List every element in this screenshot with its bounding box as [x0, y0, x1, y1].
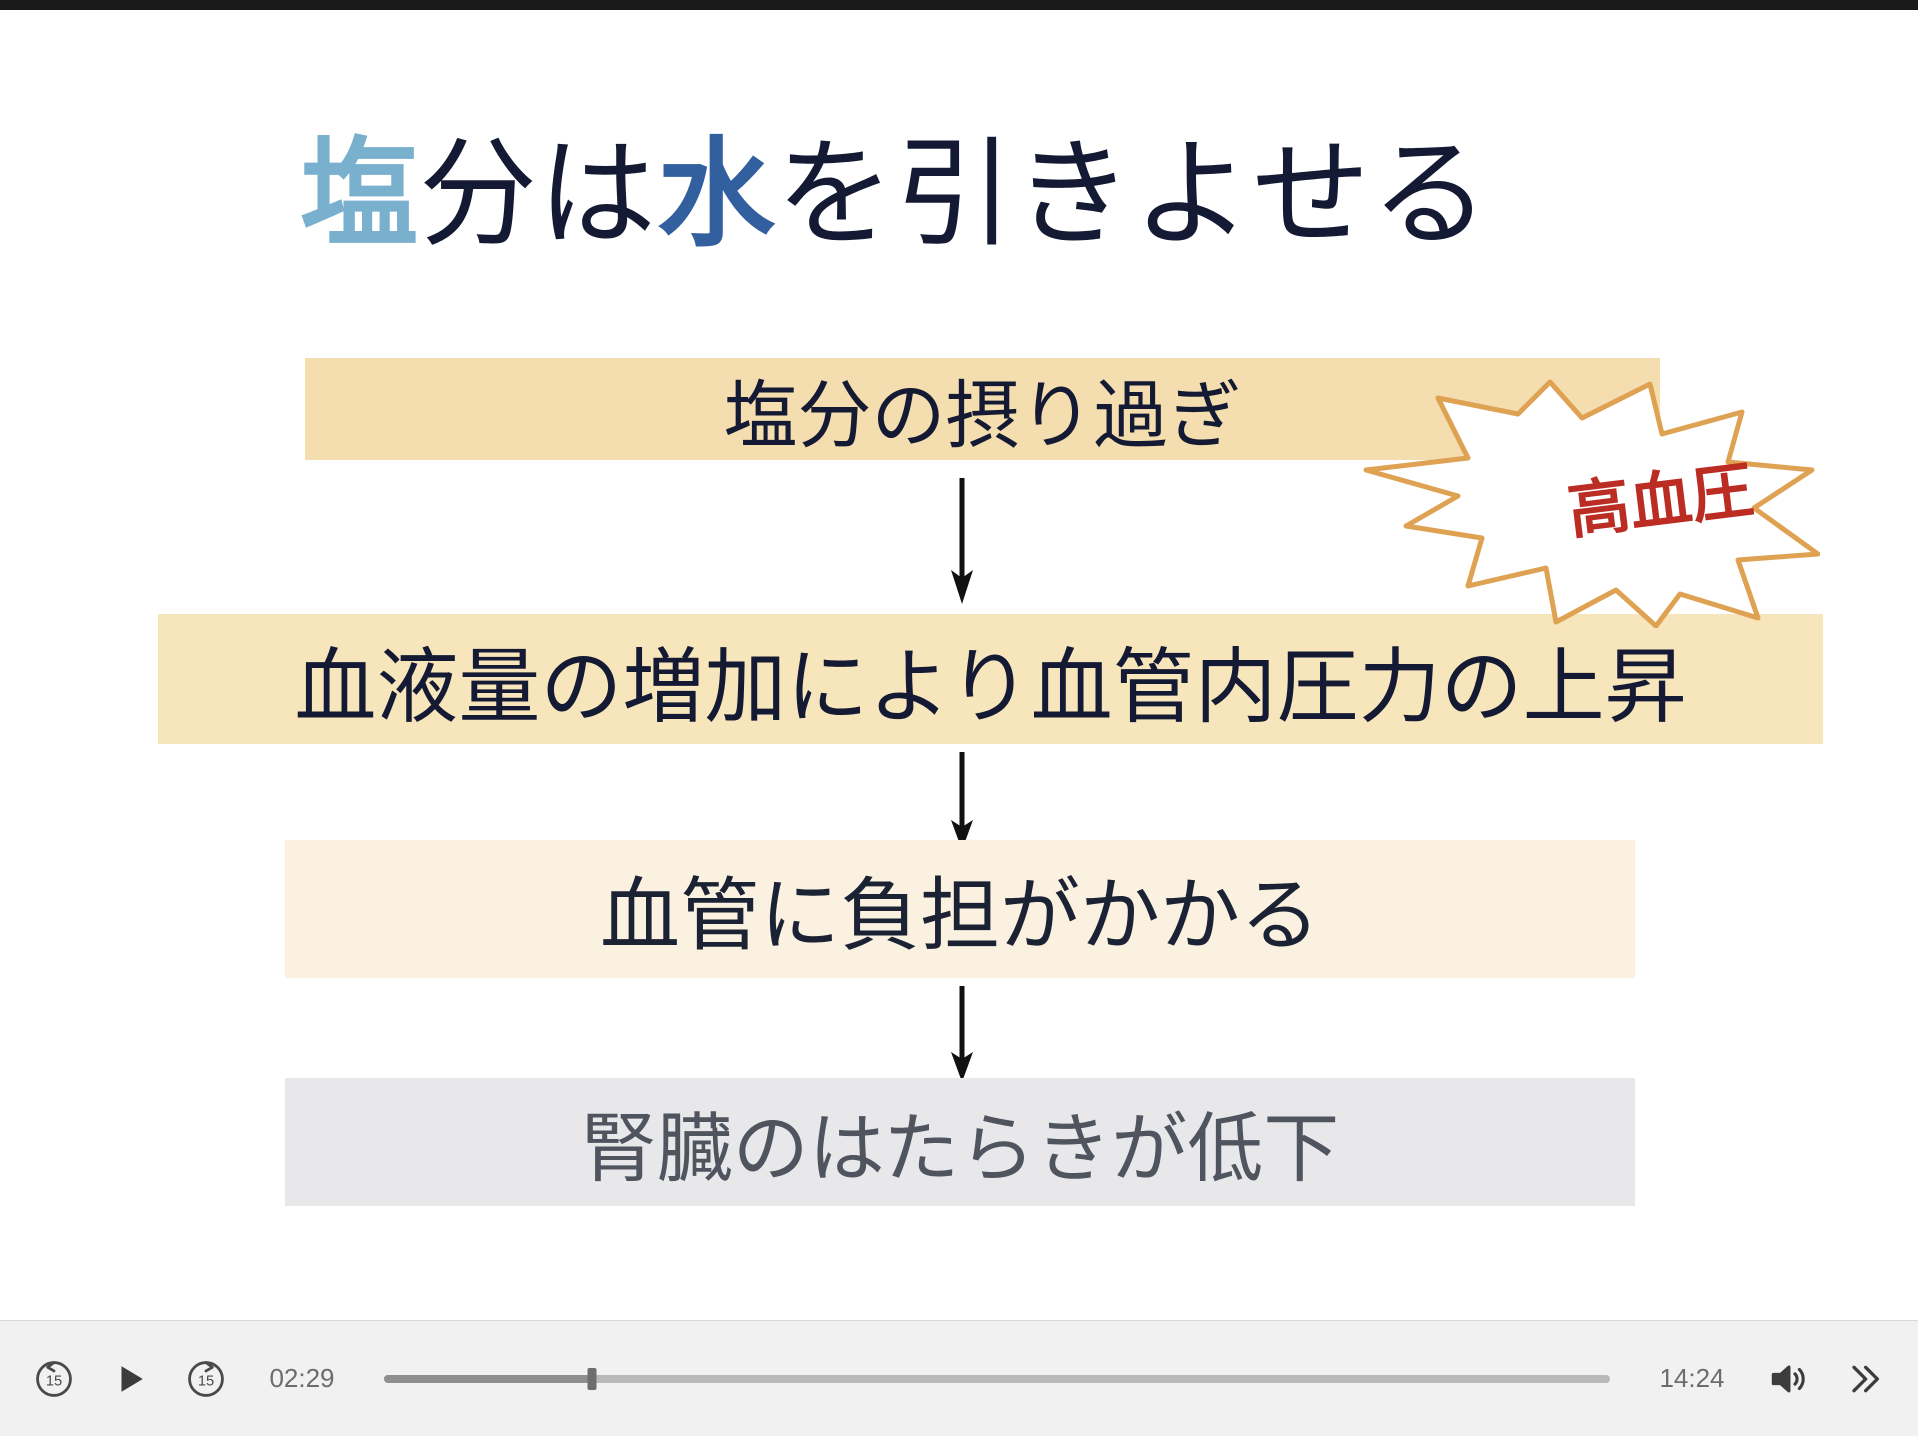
- title-part-plain-2: を引きよせる: [776, 125, 1490, 263]
- play-button[interactable]: [102, 1351, 158, 1407]
- top-black-strip: [0, 0, 1918, 10]
- arrow-down-1: [945, 478, 979, 604]
- video-player-page: 塩分は水を引きよせる 塩分の摂り過ぎ 血液量の増加により血管内圧力の上昇 血管に…: [0, 0, 1918, 1436]
- flow-box-4-label: 腎臓のはたらきが低下: [581, 1087, 1339, 1197]
- next-chapter-icon[interactable]: [1836, 1351, 1892, 1407]
- title-part-light: 塩: [300, 125, 419, 263]
- flow-box-3-label: 血管に負担がかかる: [600, 851, 1320, 967]
- flow-box-4: 腎臓のはたらきが低下: [285, 1078, 1635, 1206]
- total-time-label: 14:24: [1644, 1363, 1740, 1394]
- volume-icon[interactable]: [1760, 1351, 1816, 1407]
- arrow-down-2: [945, 752, 979, 850]
- flow-box-1-label: 塩分の摂り過ぎ: [724, 356, 1242, 463]
- rewind-15-icon[interactable]: 15: [26, 1351, 82, 1407]
- progress-filled: [384, 1375, 592, 1383]
- forward-15-icon[interactable]: 15: [178, 1351, 234, 1407]
- media-player-bar: 15 15 02:29 14:24: [0, 1320, 1918, 1436]
- title-part-dark: 水: [657, 125, 776, 263]
- svg-text:15: 15: [46, 1373, 62, 1389]
- slide-canvas: 塩分は水を引きよせる 塩分の摂り過ぎ 血液量の増加により血管内圧力の上昇 血管に…: [0, 10, 1918, 1320]
- arrow-down-3: [945, 986, 979, 1082]
- svg-text:15: 15: [198, 1373, 214, 1389]
- flow-box-3: 血管に負担がかかる: [285, 840, 1635, 978]
- flow-box-2: 血液量の増加により血管内圧力の上昇: [158, 614, 1823, 744]
- progress-handle[interactable]: [588, 1368, 597, 1390]
- progress-scrubber[interactable]: [384, 1375, 1610, 1383]
- slide-title: 塩分は水を引きよせる: [300, 135, 1640, 253]
- current-time-label: 02:29: [254, 1363, 350, 1394]
- flow-box-2-label: 血液量の増加により血管内圧力の上昇: [294, 620, 1686, 739]
- title-part-plain-1: 分は: [419, 125, 657, 263]
